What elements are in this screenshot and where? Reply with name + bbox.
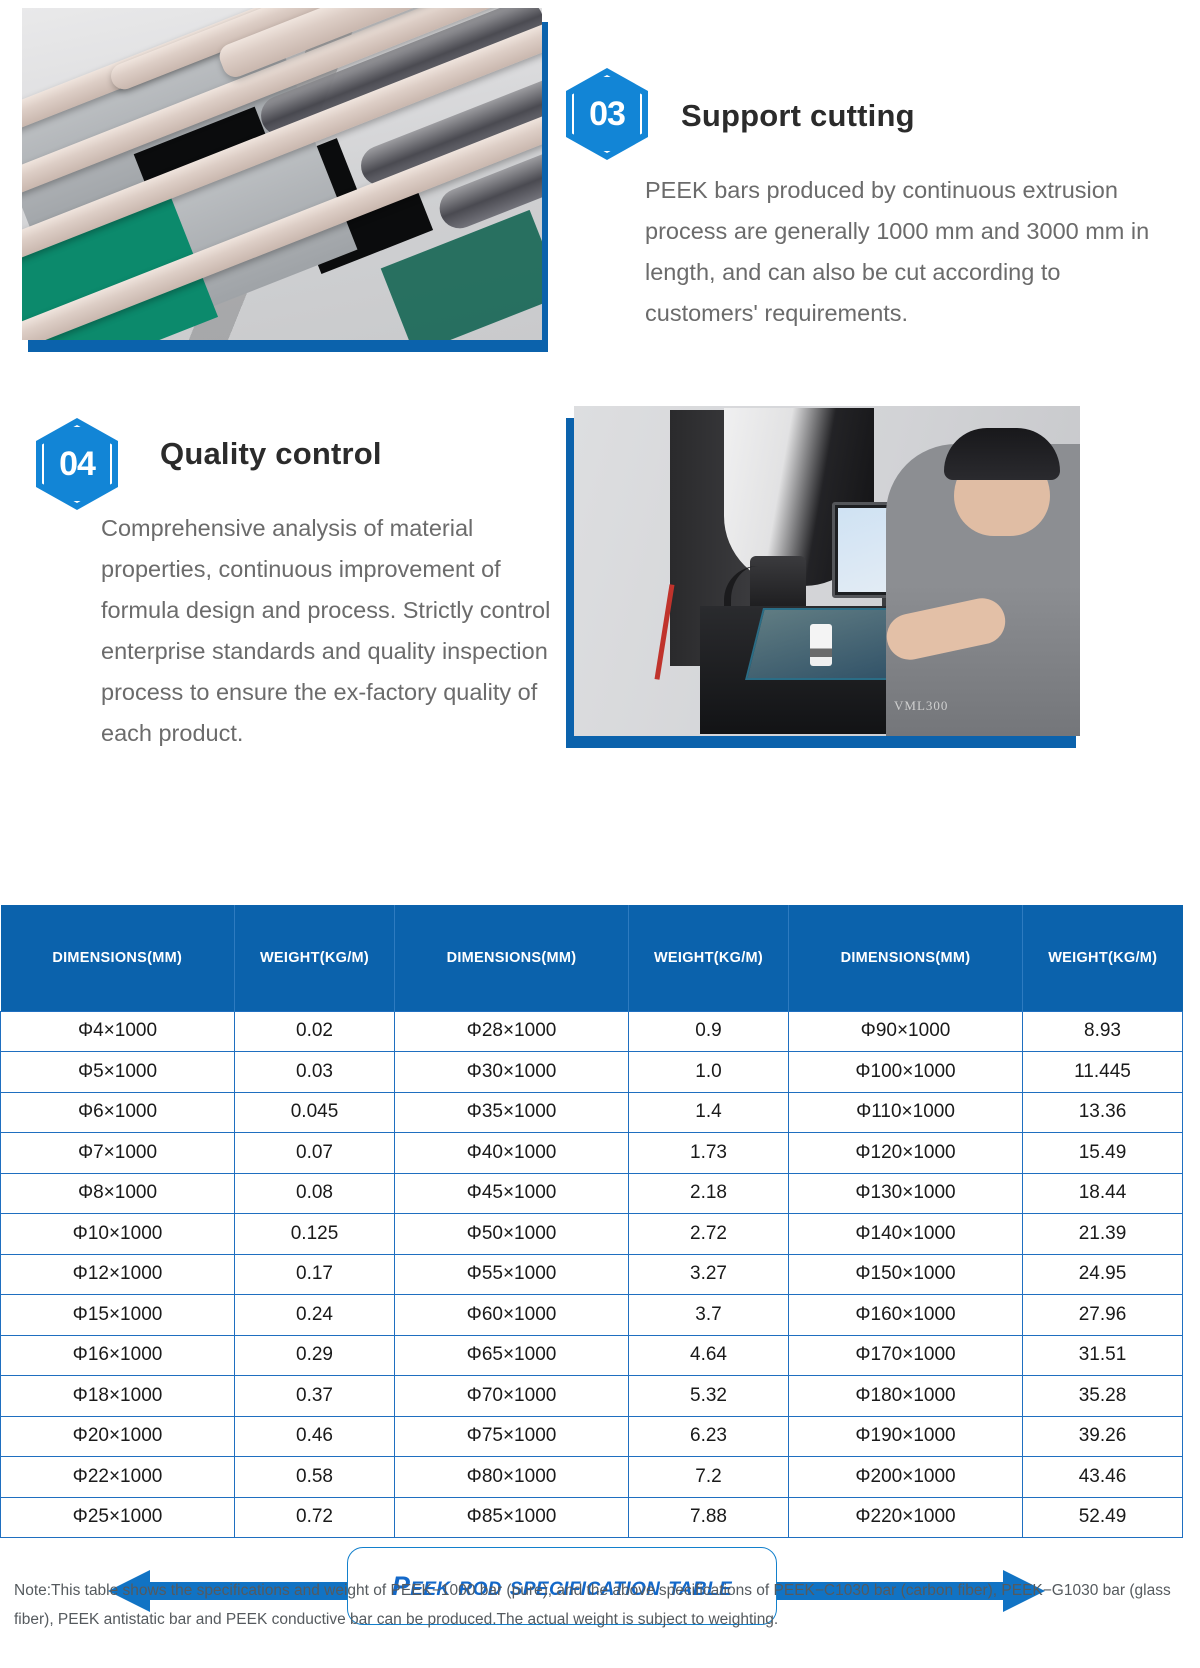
table-cell: Φ85×1000 xyxy=(395,1497,629,1538)
table-cell: 43.46 xyxy=(1023,1457,1183,1498)
table-cell: Φ65×1000 xyxy=(395,1335,629,1376)
table-cell: 4.64 xyxy=(629,1335,789,1376)
table-cell: 0.02 xyxy=(235,1011,395,1052)
table-cell: 1.73 xyxy=(629,1133,789,1174)
table-cell: 0.46 xyxy=(235,1416,395,1457)
table-cell: Φ40×1000 xyxy=(395,1133,629,1174)
table-cell: Φ30×1000 xyxy=(395,1052,629,1093)
step-badge-04: 04 xyxy=(36,418,118,510)
table-cell: Φ50×1000 xyxy=(395,1214,629,1255)
table-cell: Φ8×1000 xyxy=(1,1173,235,1214)
table-cell: 0.72 xyxy=(235,1497,395,1538)
table-header-cell: DIMENSIONS(MM) xyxy=(395,905,629,1011)
table-cell: Φ130×1000 xyxy=(789,1173,1023,1214)
table-cell: Φ60×1000 xyxy=(395,1295,629,1336)
table-cell: 2.18 xyxy=(629,1173,789,1214)
table-header-cell: WEIGHT(KG/M) xyxy=(1023,905,1183,1011)
table-row: Φ18×10000.37Φ70×10005.32Φ180×100035.28 xyxy=(1,1376,1183,1417)
peek-rod-specification-table: DIMENSIONS(MM) WEIGHT(KG/M) DIMENSIONS(M… xyxy=(0,905,1183,1538)
table-cell: 1.4 xyxy=(629,1092,789,1133)
table-cell: Φ6×1000 xyxy=(1,1092,235,1133)
table-cell: Φ190×1000 xyxy=(789,1416,1023,1457)
table-cell: 15.49 xyxy=(1023,1133,1183,1174)
table-cell: 0.24 xyxy=(235,1295,395,1336)
table-cell: 0.9 xyxy=(629,1011,789,1052)
table-cell: Φ16×1000 xyxy=(1,1335,235,1376)
table-cell: 35.28 xyxy=(1023,1376,1183,1417)
table-cell: Φ160×1000 xyxy=(789,1295,1023,1336)
table-cell: Φ100×1000 xyxy=(789,1052,1023,1093)
table-row: Φ25×10000.72Φ85×10007.88Φ220×100052.49 xyxy=(1,1497,1183,1538)
section-support-cutting: 03 Support cutting PEEK bars produced by… xyxy=(0,0,1200,380)
table-row: Φ16×10000.29Φ65×10004.64Φ170×100031.51 xyxy=(1,1335,1183,1376)
table-cell: Φ200×1000 xyxy=(789,1457,1023,1498)
table-header-cell: DIMENSIONS(MM) xyxy=(1,905,235,1011)
table-row: Φ7×10000.07Φ40×10001.73Φ120×100015.49 xyxy=(1,1133,1183,1174)
table-cell: Φ90×1000 xyxy=(789,1011,1023,1052)
table-cell: 7.2 xyxy=(629,1457,789,1498)
table-row: Φ10×10000.125Φ50×10002.72Φ140×100021.39 xyxy=(1,1214,1183,1255)
table-row: Φ5×10000.03Φ30×10001.0Φ100×100011.445 xyxy=(1,1052,1183,1093)
table-cell: Φ22×1000 xyxy=(1,1457,235,1498)
table-cell: Φ4×1000 xyxy=(1,1011,235,1052)
table-cell: Φ70×1000 xyxy=(395,1376,629,1417)
table-row: Φ8×10000.08Φ45×10002.18Φ130×100018.44 xyxy=(1,1173,1183,1214)
table-cell: 3.7 xyxy=(629,1295,789,1336)
section-title-support-cutting: Support cutting xyxy=(681,98,915,134)
table-cell: 39.26 xyxy=(1023,1416,1183,1457)
table-cell: 0.37 xyxy=(235,1376,395,1417)
table-cell: 13.36 xyxy=(1023,1092,1183,1133)
spec-table-wrapper: DIMENSIONS(MM) WEIGHT(KG/M) DIMENSIONS(M… xyxy=(0,905,1100,1538)
table-row: Φ4×10000.02Φ28×10000.9Φ90×10008.93 xyxy=(1,1011,1183,1052)
table-cell: 6.23 xyxy=(629,1416,789,1457)
table-cell: Φ45×1000 xyxy=(395,1173,629,1214)
table-cell: 0.17 xyxy=(235,1254,395,1295)
table-cell: Φ25×1000 xyxy=(1,1497,235,1538)
table-row: Φ12×10000.17Φ55×10003.27Φ150×100024.95 xyxy=(1,1254,1183,1295)
step-number-04: 04 xyxy=(36,418,118,510)
table-cell: Φ75×1000 xyxy=(395,1416,629,1457)
table-cell: 8.93 xyxy=(1023,1011,1183,1052)
table-cell: Φ35×1000 xyxy=(395,1092,629,1133)
table-header-row: DIMENSIONS(MM) WEIGHT(KG/M) DIMENSIONS(M… xyxy=(1,905,1183,1011)
table-cell: 21.39 xyxy=(1023,1214,1183,1255)
table-cell: Φ140×1000 xyxy=(789,1214,1023,1255)
table-cell: 0.58 xyxy=(235,1457,395,1498)
table-cell: 31.51 xyxy=(1023,1335,1183,1376)
table-cell: 0.07 xyxy=(235,1133,395,1174)
table-cell: Φ5×1000 xyxy=(1,1052,235,1093)
table-footnote: Note:This table shows the specifications… xyxy=(14,1576,1194,1634)
step-badge-03: 03 xyxy=(566,68,648,160)
table-header-cell: WEIGHT(KG/M) xyxy=(235,905,395,1011)
spec-table-banner: Peek rod specification table xyxy=(0,770,1200,880)
table-cell: 0.03 xyxy=(235,1052,395,1093)
table-cell: 0.29 xyxy=(235,1335,395,1376)
table-cell: 0.045 xyxy=(235,1092,395,1133)
table-cell: Φ12×1000 xyxy=(1,1254,235,1295)
table-cell: Φ20×1000 xyxy=(1,1416,235,1457)
table-cell: 52.49 xyxy=(1023,1497,1183,1538)
table-cell: 3.27 xyxy=(629,1254,789,1295)
table-cell: 0.125 xyxy=(235,1214,395,1255)
step-number-03: 03 xyxy=(566,68,648,160)
table-cell: Φ18×1000 xyxy=(1,1376,235,1417)
table-cell: 7.88 xyxy=(629,1497,789,1538)
section-body-support-cutting: PEEK bars produced by continuous extrusi… xyxy=(645,170,1170,334)
table-cell: Φ55×1000 xyxy=(395,1254,629,1295)
table-cell: Φ170×1000 xyxy=(789,1335,1023,1376)
section-title-quality-control: Quality control xyxy=(160,436,382,472)
photo-quality-inspection: VML300 xyxy=(574,406,1080,736)
table-cell: Φ110×1000 xyxy=(789,1092,1023,1133)
section-body-quality-control: Comprehensive analysis of material prope… xyxy=(101,508,571,754)
table-cell: Φ10×1000 xyxy=(1,1214,235,1255)
machine-model-label: VML300 xyxy=(894,698,948,714)
table-cell: 18.44 xyxy=(1023,1173,1183,1214)
table-body: Φ4×10000.02Φ28×10000.9Φ90×10008.93Φ5×100… xyxy=(1,1011,1183,1538)
table-row: Φ6×10000.045Φ35×10001.4Φ110×100013.36 xyxy=(1,1092,1183,1133)
table-row: Φ15×10000.24Φ60×10003.7Φ160×100027.96 xyxy=(1,1295,1183,1336)
table-cell: Φ150×1000 xyxy=(789,1254,1023,1295)
table-header-cell: DIMENSIONS(MM) xyxy=(789,905,1023,1011)
table-cell: Φ7×1000 xyxy=(1,1133,235,1174)
table-cell: 11.445 xyxy=(1023,1052,1183,1093)
table-cell: 0.08 xyxy=(235,1173,395,1214)
table-cell: 2.72 xyxy=(629,1214,789,1255)
table-cell: Φ120×1000 xyxy=(789,1133,1023,1174)
table-row: Φ22×10000.58Φ80×10007.2Φ200×100043.46 xyxy=(1,1457,1183,1498)
table-cell: Φ80×1000 xyxy=(395,1457,629,1498)
table-cell: Φ28×1000 xyxy=(395,1011,629,1052)
photo-peek-rods-conveyor xyxy=(22,8,542,340)
table-cell: Φ15×1000 xyxy=(1,1295,235,1336)
table-cell: 24.95 xyxy=(1023,1254,1183,1295)
table-cell: 1.0 xyxy=(629,1052,789,1093)
table-cell: 5.32 xyxy=(629,1376,789,1417)
table-header-cell: WEIGHT(KG/M) xyxy=(629,905,789,1011)
table-row: Φ20×10000.46Φ75×10006.23Φ190×100039.26 xyxy=(1,1416,1183,1457)
table-cell: 27.96 xyxy=(1023,1295,1183,1336)
table-cell: Φ220×1000 xyxy=(789,1497,1023,1538)
table-cell: Φ180×1000 xyxy=(789,1376,1023,1417)
